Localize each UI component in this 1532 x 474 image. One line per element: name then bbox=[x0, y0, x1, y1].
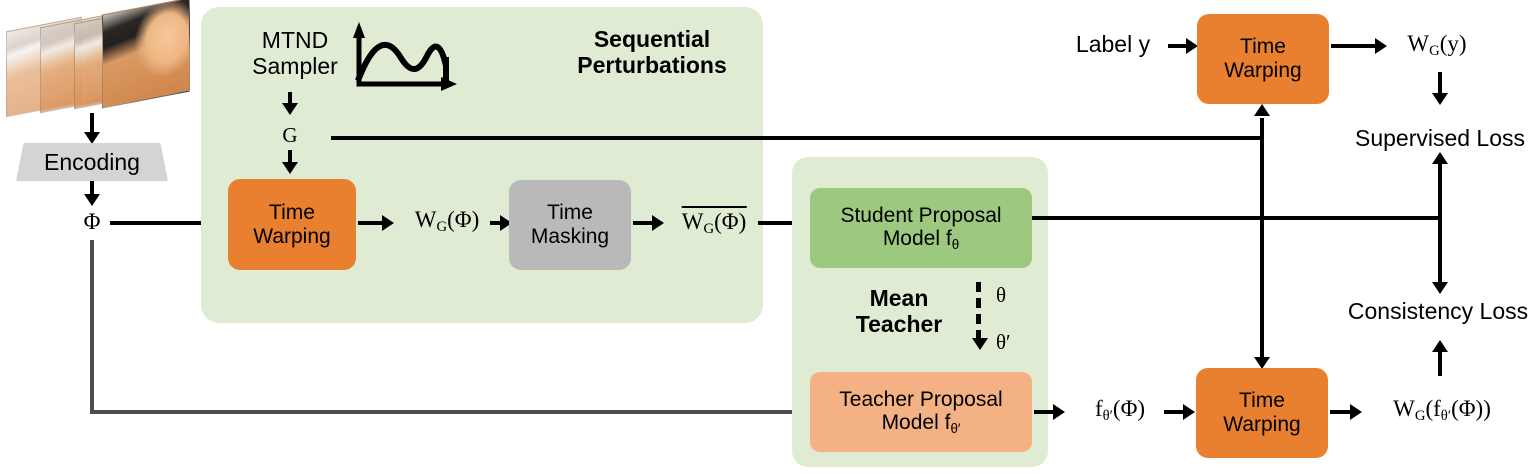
mean-teacher-group-label: Mean Teacher bbox=[856, 286, 943, 338]
time-warping-box-perturbation: Time Warping bbox=[228, 179, 356, 270]
encoding-label: Encoding bbox=[44, 149, 140, 176]
phi-to-teacher-vline bbox=[90, 240, 94, 414]
warped-label-y: WG(y) bbox=[1407, 31, 1466, 60]
supervised-loss-label: Supervised Loss bbox=[1355, 126, 1525, 152]
wavy-curve-plot-icon bbox=[345, 16, 465, 96]
student-branch-up-head bbox=[1254, 104, 1270, 116]
student-output-trunk bbox=[1032, 216, 1442, 220]
time-warping-box-label: Time Warping bbox=[1197, 14, 1329, 104]
diagram-canvas: Encoding Φ MTND Sampler Sequential Pertu… bbox=[0, 0, 1532, 474]
phi-to-timewarp-line bbox=[110, 221, 214, 225]
theta-label: θ bbox=[996, 284, 1006, 308]
student-model-symbol: Model fθ bbox=[840, 227, 1001, 252]
timewarp-to-wgf-head bbox=[1350, 404, 1362, 420]
panel-title-sequential-perturbations: Sequential Perturbations bbox=[577, 27, 727, 79]
wgf-to-conloss-head bbox=[1432, 340, 1448, 352]
phi-features-label: Φ bbox=[84, 209, 101, 235]
warped-teacher-output-label: WG(fθ′(Φ)) bbox=[1393, 396, 1491, 425]
wgf-to-conloss-line bbox=[1438, 348, 1442, 376]
masking-to-maskedwg-head bbox=[652, 215, 664, 231]
time-masking-box: Time Masking bbox=[509, 180, 631, 270]
loss-double-arrow-head-down bbox=[1432, 282, 1448, 294]
arrow-encoding-to-phi-head bbox=[84, 194, 100, 206]
timewarp-to-wgy-head bbox=[1375, 38, 1387, 54]
teacher-out-head bbox=[1053, 404, 1065, 420]
video-frame-front bbox=[102, 0, 190, 109]
student-branch-up-line bbox=[1260, 118, 1264, 218]
loss-double-arrow-line bbox=[1438, 160, 1442, 290]
teacher-output-label: fθ′(Φ) bbox=[1095, 396, 1145, 425]
student-proposal-model-box: Student Proposal Model fθ bbox=[810, 188, 1032, 268]
arrow-frames-to-encoding-head bbox=[84, 132, 100, 144]
wgy-to-suploss-head bbox=[1432, 93, 1448, 105]
ema-update-dashed-line bbox=[976, 282, 981, 340]
warped-features-label: WG(Φ) bbox=[415, 207, 480, 236]
timewarp-to-wg-line bbox=[358, 221, 384, 225]
loss-double-arrow-head-up bbox=[1432, 152, 1448, 164]
encoding-block: Encoding bbox=[16, 143, 168, 181]
masked-warped-features-label: WG(Φ) bbox=[682, 206, 747, 238]
teacherout-to-timewarp-head bbox=[1183, 404, 1195, 420]
timewarp-to-wgy-line bbox=[1331, 44, 1381, 48]
g-to-timewarp-head bbox=[282, 162, 298, 174]
theta-prime-label: θ′ bbox=[996, 331, 1011, 355]
sampler-to-g-head bbox=[282, 103, 298, 115]
time-warping-box-teacher: Time Warping bbox=[1196, 368, 1328, 458]
student-branch-down-line bbox=[1260, 216, 1264, 360]
label-y-input: Label y bbox=[1076, 32, 1150, 58]
teacher-proposal-model-box: Teacher Proposal Model fθ′ bbox=[810, 372, 1032, 452]
g-broadcast-line bbox=[331, 136, 1264, 140]
ema-update-arrow-head bbox=[972, 338, 988, 350]
timewarp-to-wg-head bbox=[382, 215, 394, 231]
warp-parameter-g-label: G bbox=[282, 124, 297, 148]
video-frame-stack bbox=[2, 2, 187, 117]
teacher-model-symbol: Model fθ′ bbox=[839, 411, 1002, 436]
mtnd-sampler-label: MTND Sampler bbox=[252, 28, 338, 80]
consistency-loss-label: Consistency Loss bbox=[1348, 299, 1528, 325]
phi-to-teacher-hline bbox=[90, 410, 808, 414]
